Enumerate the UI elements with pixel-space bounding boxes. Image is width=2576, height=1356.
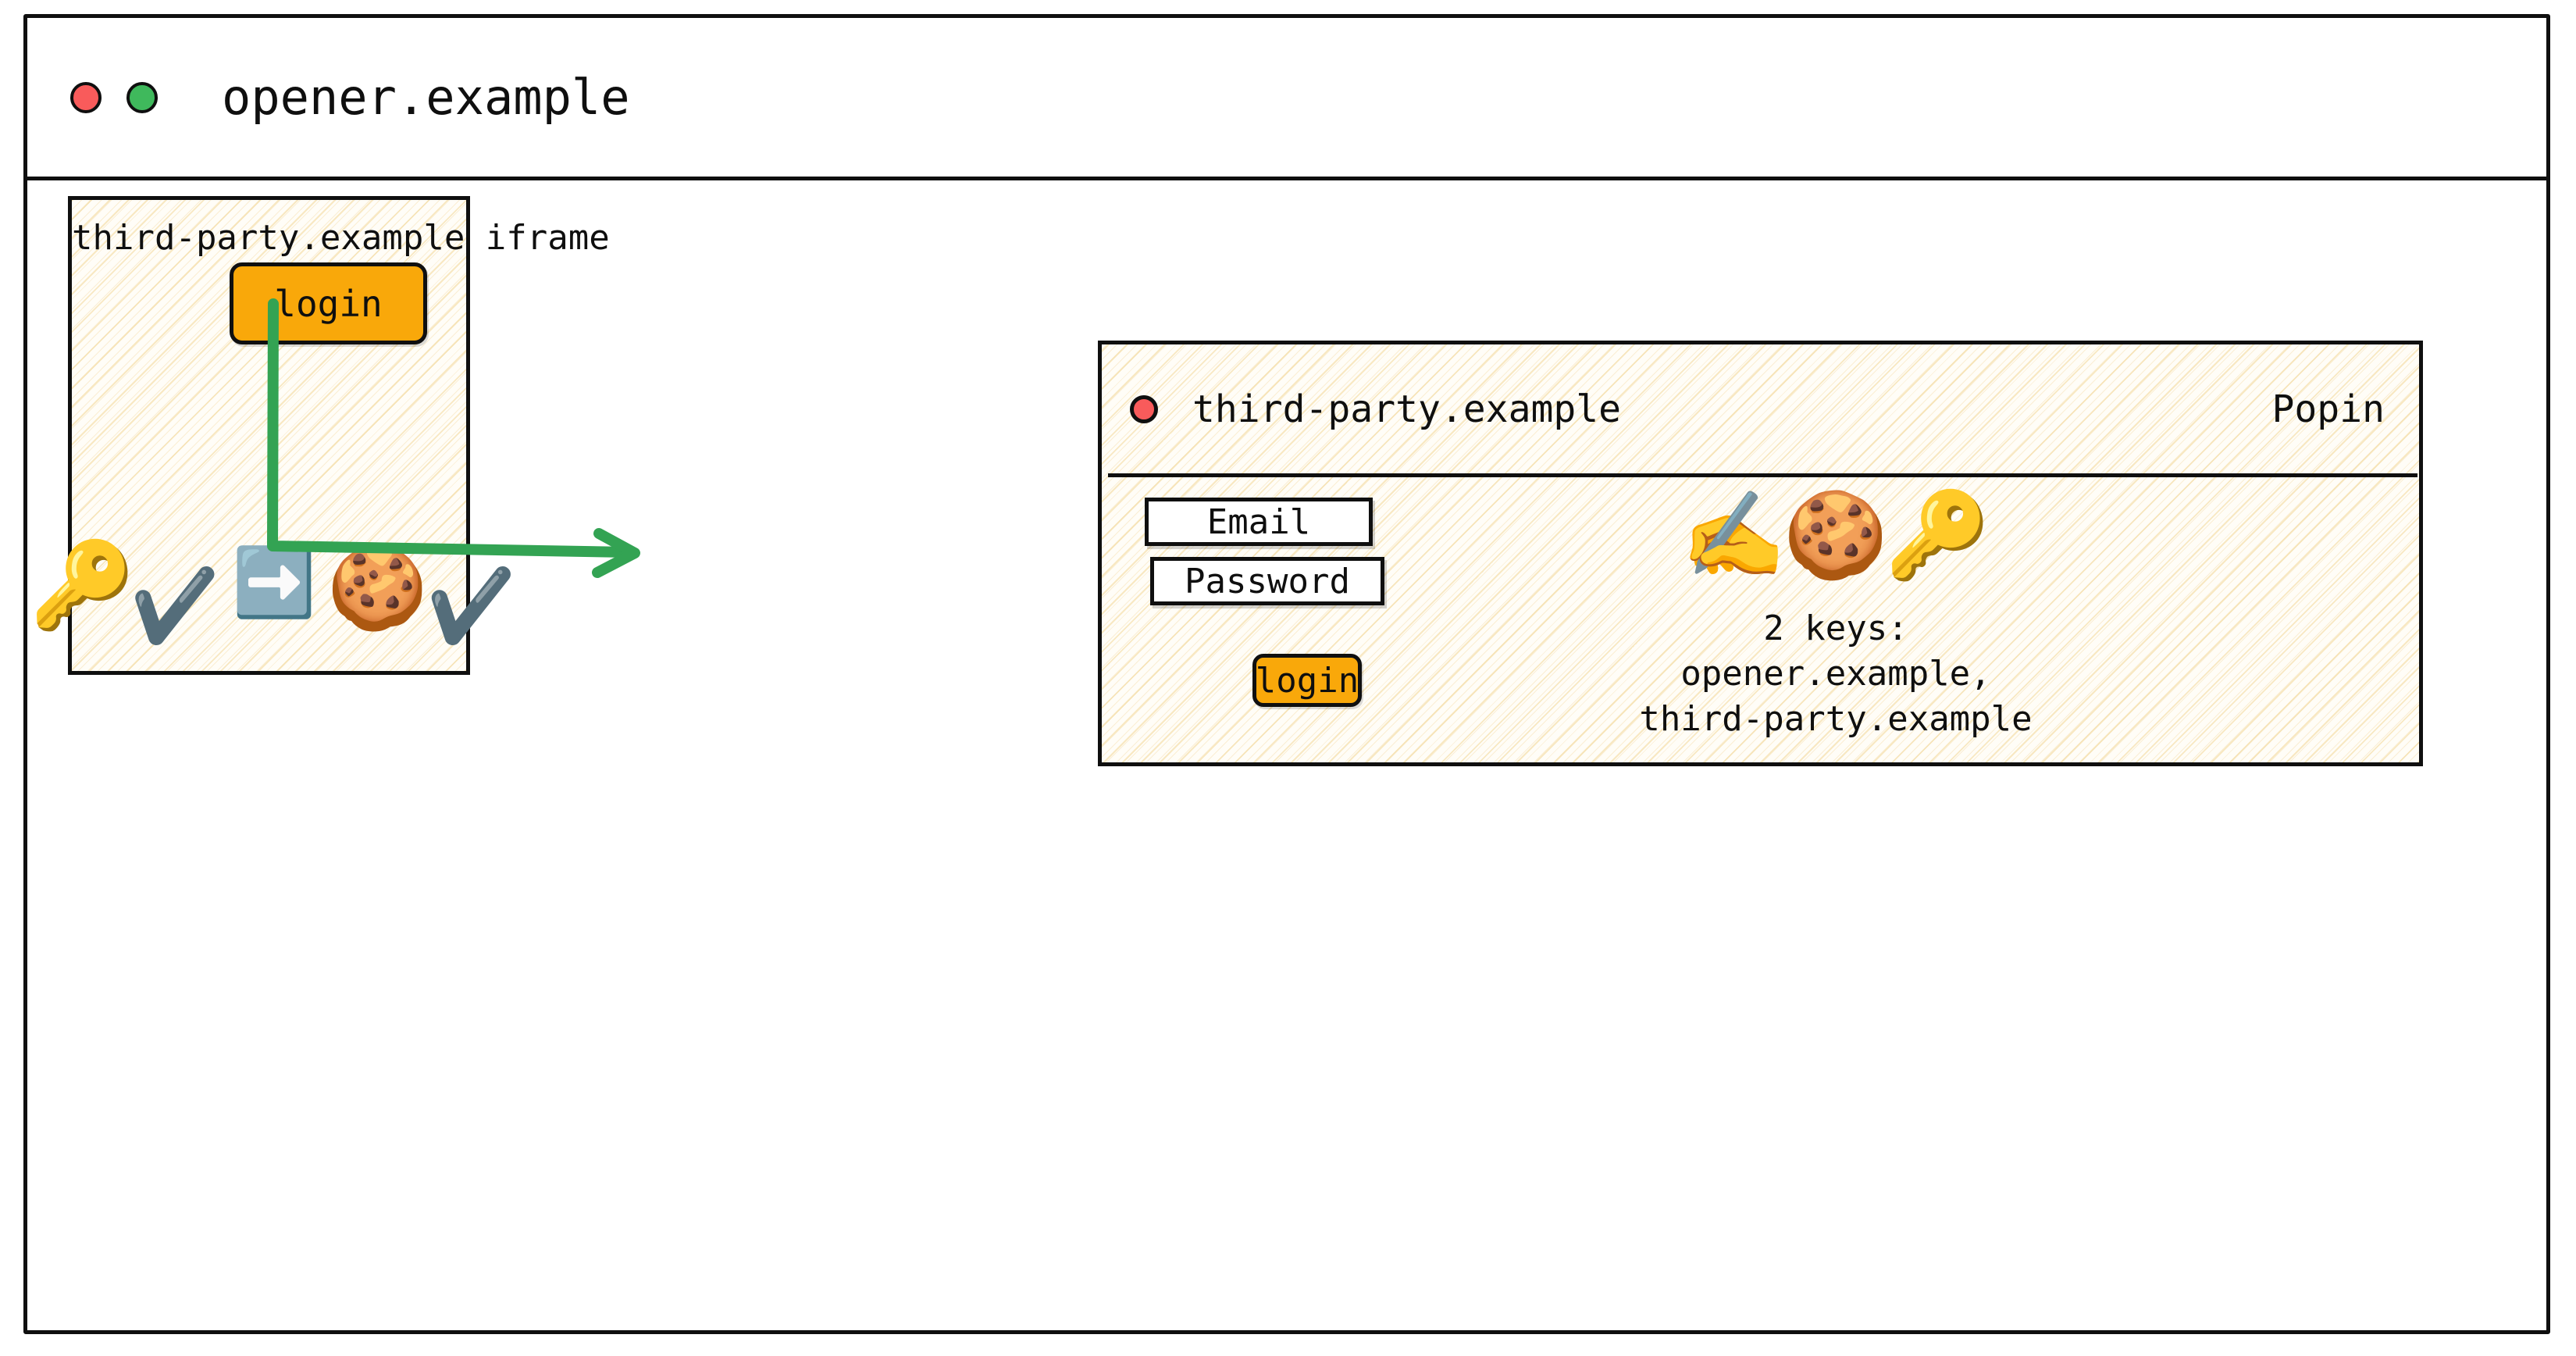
popin-origin-label: third-party.example [1192, 387, 1621, 431]
popin-keys-text: 2 keys: opener.example, third-party.exam… [1617, 606, 2054, 742]
password-field[interactable]: Password [1150, 557, 1384, 605]
check-mark-icon: ✔️ [426, 570, 516, 642]
email-field-label: Email [1207, 502, 1310, 542]
cookie-icon: 🍪 [1783, 494, 1888, 578]
iframe-login-button-label: login [274, 283, 382, 325]
window-title: opener.example [222, 69, 630, 126]
window-body: third-party.example iframe login 🔑 ✔️ ➡️… [27, 180, 2546, 1330]
connector-arrowhead [597, 533, 635, 573]
writing-hand-icon: ✍️ [1681, 494, 1786, 578]
popin-info-icons: ✍️ 🍪 🔑 [1617, 489, 2054, 583]
popin-close-dot[interactable] [1130, 395, 1158, 423]
email-field[interactable]: Email [1145, 498, 1373, 546]
popin-titlebar: third-party.example Popin [1102, 344, 2419, 473]
popin-key-info: ✍️ 🍪 🔑 2 keys: opener.example, third-par… [1617, 489, 2054, 742]
iframe-title: third-party.example iframe [72, 218, 466, 258]
key-icon: 🔑 [30, 544, 134, 628]
cookie-icon: 🍪 [327, 547, 429, 628]
popin-content: Email Password login ✍️ 🍪 🔑 2 ke [1102, 477, 2419, 762]
window-titlebar: opener.example [27, 18, 2546, 180]
right-arrow-icon: ➡️ [232, 549, 315, 616]
iframe-login-button[interactable]: login [230, 262, 427, 344]
close-dot[interactable] [70, 82, 102, 113]
check-mark-icon: ✔️ [130, 570, 220, 642]
popin-login-button[interactable]: login [1252, 654, 1362, 707]
browser-window: opener.example third-party.example ifram… [23, 14, 2550, 1334]
iframe-credentials-row: 🔑 ✔️ ➡️ 🍪 ✔️ [80, 520, 466, 657]
popin-type-label: Popin [2272, 387, 2385, 431]
popin-login-button-label: login [1256, 661, 1359, 701]
key-icon: 🔑 [1885, 494, 1990, 578]
login-form: Email Password login [1145, 498, 1379, 605]
third-party-iframe-panel: third-party.example iframe login 🔑 ✔️ ➡️… [68, 196, 470, 675]
maximize-dot[interactable] [126, 82, 158, 113]
popin-window: third-party.example Popin Email Password… [1098, 341, 2423, 766]
password-field-label: Password [1185, 562, 1350, 601]
